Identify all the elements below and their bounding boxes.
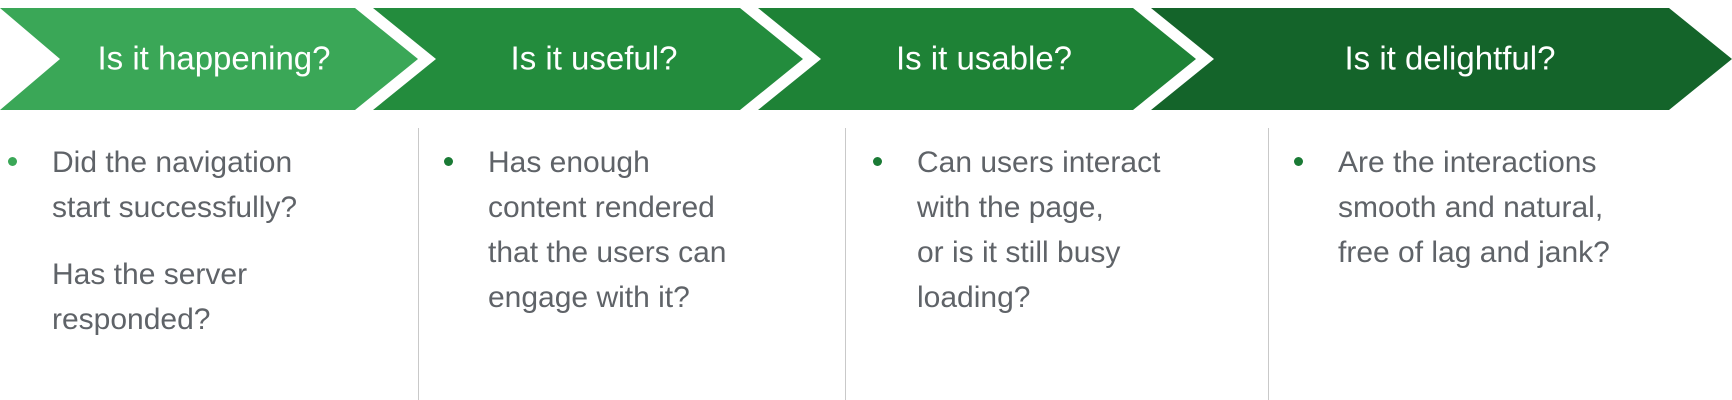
list-item: Are the interactions smooth and natural,… bbox=[1294, 140, 1702, 275]
chevron-label-2: Is it useful? bbox=[511, 40, 678, 77]
column-divider bbox=[845, 128, 846, 400]
diagram-root: Is it happening? Is it useful? Is it usa… bbox=[0, 0, 1732, 400]
list-item: Has enough content rendered that the use… bbox=[444, 140, 815, 320]
stage-details-is-it-happening: Did the navigation start successfully? H… bbox=[0, 118, 418, 400]
chevron-stage-2[interactable]: Is it useful? bbox=[373, 8, 803, 110]
bullet-dot-icon bbox=[873, 157, 882, 166]
list-item: Can users interact with the page, or is … bbox=[873, 140, 1238, 320]
list-item-text: Did the navigation start successfully? bbox=[52, 140, 384, 230]
list-item-text: Can users interact with the page, or is … bbox=[917, 140, 1238, 320]
bullet-dot-icon bbox=[8, 157, 17, 166]
stage-details-row: Did the navigation start successfully? H… bbox=[0, 118, 1732, 400]
chevron-stage-3[interactable]: Is it usable? bbox=[758, 8, 1196, 110]
chevron-stage-1[interactable]: Is it happening? bbox=[0, 8, 418, 110]
bullet-dot-icon bbox=[444, 157, 453, 166]
chevron-stage-4[interactable]: Is it delightful? bbox=[1151, 8, 1732, 110]
chevron-label-1: Is it happening? bbox=[97, 40, 330, 77]
chevron-label-4: Is it delightful? bbox=[1345, 40, 1556, 77]
stage-paragraph: Has the server responded? bbox=[52, 252, 384, 342]
chevron-band: Is it happening? Is it useful? Is it usa… bbox=[0, 0, 1732, 118]
list-item-text: Has enough content rendered that the use… bbox=[488, 140, 815, 320]
list-item: Did the navigation start successfully? bbox=[8, 140, 384, 230]
stage-details-is-it-usable: Can users interact with the page, or is … bbox=[845, 118, 1268, 400]
chevron-label-3: Is it usable? bbox=[896, 40, 1072, 77]
list-item-text: Are the interactions smooth and natural,… bbox=[1338, 140, 1702, 275]
column-divider bbox=[1268, 128, 1269, 400]
column-divider bbox=[418, 128, 419, 400]
stage-details-is-it-delightful: Are the interactions smooth and natural,… bbox=[1268, 118, 1732, 400]
stage-details-is-it-useful: Has enough content rendered that the use… bbox=[418, 118, 845, 400]
bullet-dot-icon bbox=[1294, 157, 1303, 166]
